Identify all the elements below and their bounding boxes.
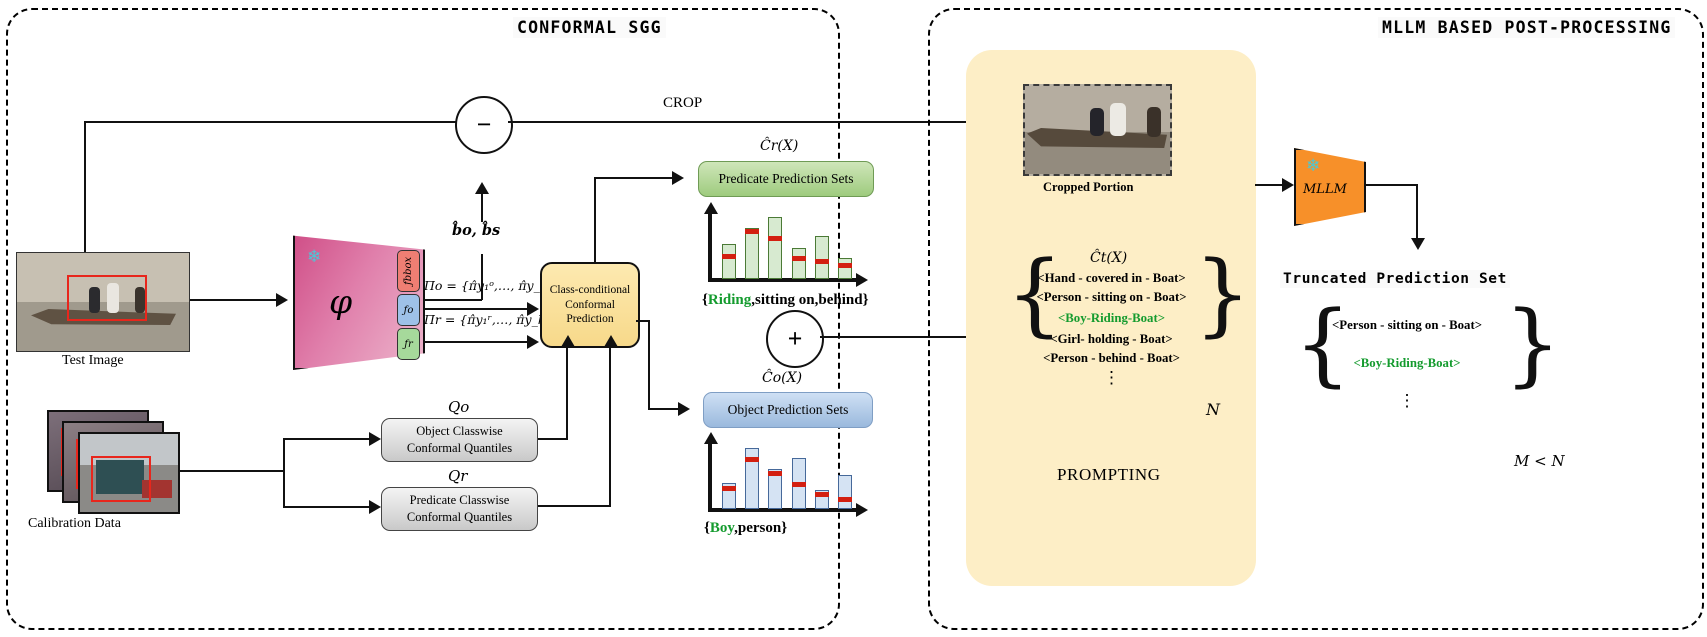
chart-bar: [745, 228, 759, 279]
snowflake-icon: ❄: [307, 248, 321, 265]
combine-node: +: [766, 310, 824, 368]
ccp-line-1: Class-conditional: [550, 283, 631, 298]
chart-threshold-marker: [768, 471, 782, 476]
phi-symbol: φ: [329, 282, 352, 321]
head-fo: ƒo: [397, 294, 420, 326]
object-caption-rest: ,person}: [734, 520, 787, 536]
fbbox-up-line: [481, 254, 483, 300]
candidate-brace-right: }: [1194, 250, 1251, 340]
qo-to-ccp-h: [537, 438, 568, 440]
chart-bar: [792, 248, 806, 279]
calib-to-qo-arrow: [369, 432, 381, 446]
pi-predicate-label: Πr = {π̂y₁ʳ,…, π̂y_kʳ}: [424, 312, 558, 327]
minus-symbol: −: [477, 112, 492, 138]
qo-symbol: Qo: [448, 398, 469, 416]
qr-line-1: Predicate Classwise: [410, 492, 510, 509]
qo-line-2: Conformal Quantiles: [407, 440, 512, 457]
object-score-chart: [700, 432, 860, 512]
ccp-line-3: Prediction: [566, 312, 613, 327]
qr-symbol: Qr: [448, 467, 467, 485]
qr-line-2: Conformal Quantiles: [407, 509, 512, 526]
chart-threshold-marker: [792, 256, 806, 261]
subtract-node: −: [455, 96, 513, 154]
qr-to-ccp-v: [609, 344, 611, 506]
predicate-chart-x-arrowhead: [856, 273, 868, 287]
crop-figure-boy-white: [1110, 103, 1126, 136]
predicate-score-chart: [700, 202, 860, 282]
crop-figure-boy-dark: [1090, 108, 1104, 136]
snowflake-icon: ❄: [1306, 157, 1320, 174]
triplet-row: <Person - behind - Boat>: [1005, 351, 1218, 366]
test-image-bbox: [67, 275, 147, 321]
predicate-caption: {Riding,sitting on,behind}: [702, 292, 868, 309]
mllm-out-arrow: [1411, 238, 1425, 250]
testimage-to-phi-arrow: [276, 293, 288, 307]
crop-label: CROP: [663, 95, 702, 112]
qo-to-ccp-v: [566, 344, 568, 439]
calibration-image-front: [78, 432, 180, 514]
chart-bar: [815, 490, 829, 510]
ccp-out-up-arrow: [672, 171, 684, 185]
mllm-out-v: [1416, 184, 1418, 240]
object-prediction-sets-pill: Object Prediction Sets: [703, 392, 873, 428]
plus-symbol: +: [788, 326, 803, 352]
chart-threshold-marker: [745, 457, 759, 462]
chart-threshold-marker: [815, 492, 829, 497]
ccp-out-up: [594, 178, 596, 264]
candidate-vertical-dots: ⋮: [1005, 373, 1218, 382]
chart-threshold-marker: [792, 482, 806, 487]
chart-threshold-marker: [722, 254, 736, 259]
candidate-set-symbol: Ĉt(X): [1090, 250, 1127, 266]
prompting-label: PROMPTING: [1057, 465, 1161, 485]
top-line-left: [84, 121, 456, 123]
qo-to-ccp-arrow: [561, 335, 575, 347]
candidate-count-symbol: N: [1206, 400, 1220, 419]
object-chart-y-arrowhead: [704, 432, 718, 444]
chart-bar: [792, 458, 806, 509]
feature-extractor-phi: ❄ φ ƒbbox ƒo ƒr: [293, 230, 425, 370]
testimage-up-line: [84, 122, 86, 262]
object-caption-highlight: Boy: [710, 520, 734, 536]
mllm-out-h: [1364, 184, 1418, 186]
chart-threshold-marker: [815, 259, 829, 264]
pi-predicate-arrow: [527, 335, 539, 349]
cropped-portion-caption: Cropped Portion: [1043, 180, 1133, 195]
qo-line-1: Object Classwise: [416, 423, 502, 440]
object-chart-y-axis: [708, 442, 712, 512]
ccp-out-down-h0: [636, 320, 650, 322]
chart-bar: [722, 483, 736, 509]
crop-figure-right: [1147, 107, 1161, 137]
ccp-line-2: Conformal: [565, 298, 615, 313]
head-fbbox-label: ƒbbox: [403, 257, 414, 285]
chart-bar: [722, 244, 736, 279]
ccp-out-up-h: [594, 177, 674, 179]
crop-to-mllm-arrow: [1282, 178, 1294, 192]
test-image: [16, 252, 190, 352]
calib-split-v: [283, 438, 285, 508]
chart-bar: [768, 217, 782, 279]
chart-threshold-marker: [745, 229, 759, 234]
truncated-brace-left: {: [1294, 300, 1351, 390]
pi-object-line: [424, 308, 528, 310]
ccp-out-down-arrow: [678, 402, 690, 416]
predicate-set-symbol: Ĉr(X): [760, 138, 798, 154]
fbbox-line: [424, 299, 482, 301]
calib-to-qr: [283, 506, 371, 508]
qr-to-ccp-arrow: [604, 335, 618, 347]
predicate-pill-label: Predicate Prediction Sets: [719, 171, 854, 187]
panel-title-left: CONFORMAL SGG: [513, 17, 666, 38]
mllm-label: MLLM: [1303, 182, 1347, 197]
calib-to-qr-arrow: [369, 500, 381, 514]
predicate-chart-y-arrowhead: [704, 202, 718, 214]
chart-bar: [745, 448, 759, 509]
ccp-out-down-h: [648, 408, 680, 410]
bbox-arrowhead: [475, 182, 489, 194]
cropped-portion-image: [1023, 84, 1172, 176]
calib-out-line: [180, 470, 284, 472]
predicate-caption-highlight: Riding: [708, 292, 751, 308]
chart-threshold-marker: [838, 263, 852, 268]
test-image-caption: Test Image: [62, 353, 124, 369]
chart-threshold-marker: [838, 497, 852, 502]
pi-predicate-line: [424, 341, 528, 343]
class-conditional-conformal-prediction: Class-conditional Conformal Prediction: [540, 262, 640, 348]
bbox-label: b̂o, b̂s: [452, 222, 500, 239]
bbox-up-line: [481, 192, 483, 222]
head-fr: ƒr: [397, 328, 420, 360]
calib-front-bbox: [91, 456, 151, 502]
qr-to-ccp-h: [537, 505, 611, 507]
chart-bar: [838, 258, 852, 279]
calibration-caption: Calibration Data: [28, 516, 121, 532]
mllm-model: ❄ MLLM: [1294, 148, 1366, 226]
panel-title-right: MLLM BASED POST-PROCESSING: [1378, 17, 1675, 38]
predicate-caption-rest: ,sitting on,behind}: [751, 292, 868, 308]
predicate-chart-y-axis: [708, 212, 712, 282]
chart-threshold-marker: [722, 486, 736, 491]
object-pill-label: Object Prediction Sets: [728, 402, 849, 418]
truncated-count-symbol: M < N: [1514, 452, 1565, 470]
chart-bar: [838, 475, 852, 509]
chart-bar: [768, 469, 782, 509]
object-chart-x-arrowhead: [856, 503, 868, 517]
head-fr-label: ƒr: [404, 339, 412, 350]
head-fbbox: ƒbbox: [397, 250, 420, 292]
chart-threshold-marker: [768, 236, 782, 241]
chart-bar: [815, 236, 829, 279]
predicate-classwise-quantiles: Predicate Classwise Conformal Quantiles: [381, 487, 538, 531]
truncated-prediction-set-title: Truncated Prediction Set: [1280, 270, 1510, 288]
truncated-vertical-dots: ⋮: [1300, 396, 1514, 405]
predicate-prediction-sets-pill: Predicate Prediction Sets: [698, 161, 874, 197]
object-set-symbol: Ĉo(X): [762, 370, 802, 386]
ccp-out-down: [648, 320, 650, 409]
object-classwise-quantiles: Object Classwise Conformal Quantiles: [381, 418, 538, 462]
testimage-to-phi-line: [190, 299, 278, 301]
head-fo-label: ƒo: [404, 305, 414, 316]
object-caption: {Boy,person}: [704, 520, 787, 537]
calib-to-qo: [283, 438, 371, 440]
truncated-brace-right: }: [1504, 300, 1561, 390]
candidate-brace-left: {: [1006, 250, 1063, 340]
